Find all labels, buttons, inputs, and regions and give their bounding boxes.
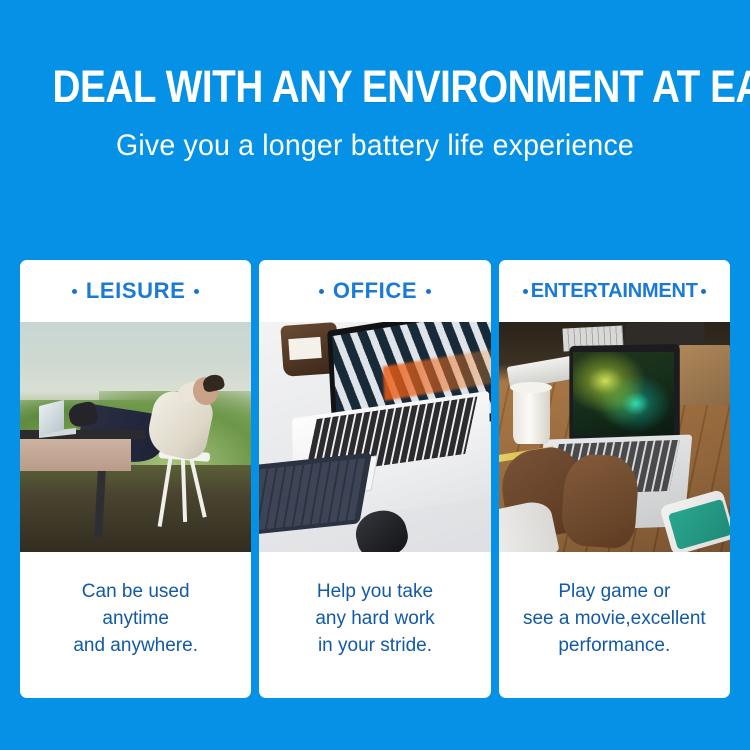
bullet-dot-left-icon: [319, 289, 324, 294]
card-caption-leisure: Can be used anytime and anywhere.: [20, 552, 251, 698]
header-block: DEAL WITH ANY ENVIRONMENT AT EASE Give y…: [0, 62, 750, 164]
card-header-entertainment: ENTERTAINMENT: [499, 260, 730, 322]
card-title-office: OFFICE: [333, 278, 417, 304]
card-title-leisure: LEISURE: [86, 278, 186, 304]
card-caption-office: Help you take any hard work in your stri…: [259, 552, 490, 698]
feature-card-entertainment[interactable]: ENTERTAINMENT: [499, 260, 730, 698]
card-photo-office: [259, 322, 490, 552]
bullet-dot-right-icon: [194, 289, 199, 294]
bullet-dot-right-icon: [701, 289, 706, 294]
page-title: DEAL WITH ANY ENVIRONMENT AT EASE: [53, 62, 698, 112]
card-title-entertainment: ENTERTAINMENT: [531, 280, 698, 303]
bullet-dot-left-icon: [72, 289, 77, 294]
bullet-dot-right-icon: [426, 289, 431, 294]
feature-cards-row: LEISURE: [20, 260, 730, 698]
card-header-office: OFFICE: [259, 260, 490, 322]
card-caption-entertainment: Play game or see a movie,excellent perfo…: [499, 552, 730, 698]
card-header-leisure: LEISURE: [20, 260, 251, 322]
card-photo-entertainment: [499, 322, 730, 552]
feature-card-leisure[interactable]: LEISURE: [20, 260, 251, 698]
page-subtitle: Give you a longer battery life experienc…: [19, 128, 732, 164]
feature-card-office[interactable]: OFFICE Help you take any hard work in yo…: [259, 260, 490, 698]
promo-poster: DEAL WITH ANY ENVIRONMENT AT EASE Give y…: [0, 0, 750, 750]
card-photo-leisure: [20, 322, 251, 552]
bullet-dot-left-icon: [523, 289, 528, 294]
